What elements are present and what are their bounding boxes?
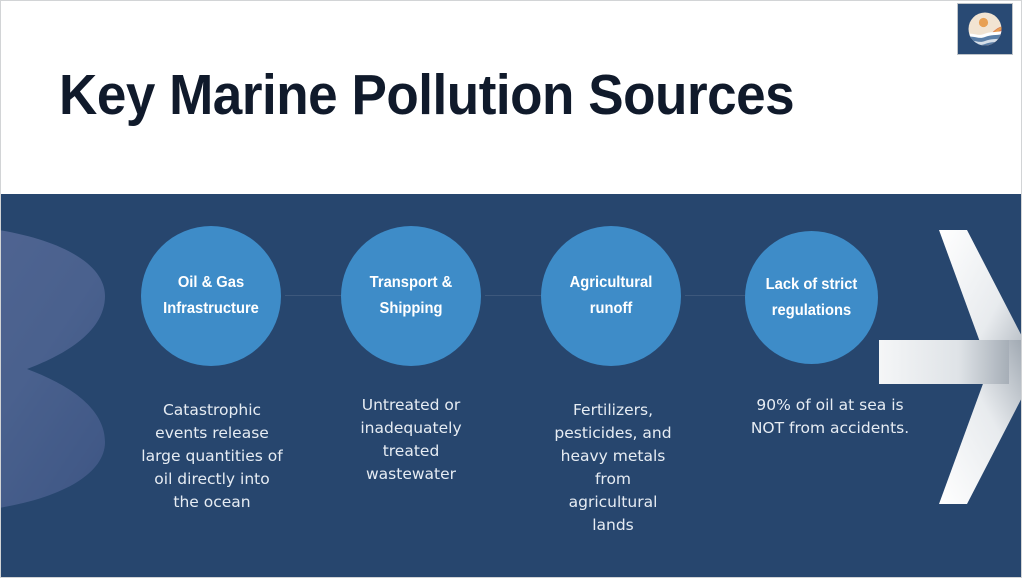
page-title: Key Marine Pollution Sources bbox=[59, 63, 794, 127]
pollution-source-list: Oil & Gas Infrastructure Catastrophic ev… bbox=[1, 194, 1022, 577]
source-bubble-agricultural-runoff[interactable]: Agricultural runoff bbox=[541, 226, 681, 366]
connector-line bbox=[285, 295, 347, 296]
slide-header-band: Key Marine Pollution Sources bbox=[1, 1, 1022, 194]
content-band: Oil & Gas Infrastructure Catastrophic ev… bbox=[1, 194, 1022, 577]
source-bubble-lack-of-regulations[interactable]: Lack of strict regulations bbox=[745, 231, 878, 364]
source-bubble-label: Lack of strict regulations bbox=[748, 272, 874, 324]
connector-line bbox=[685, 295, 747, 296]
source-bubble-oil-gas[interactable]: Oil & Gas Infrastructure bbox=[141, 226, 281, 366]
slide-canvas: Key Marine Pollution Sources bbox=[0, 0, 1022, 578]
source-bubble-label: Oil & Gas Infrastructure bbox=[145, 270, 278, 322]
sun-sea-logo-icon bbox=[965, 9, 1005, 49]
source-bubble-label: Transport & Shipping bbox=[345, 270, 478, 322]
source-description: Catastrophic events release large quanti… bbox=[141, 399, 283, 514]
source-bubble-transport-shipping[interactable]: Transport & Shipping bbox=[341, 226, 481, 366]
source-description: 90% of oil at sea is NOT from accidents. bbox=[747, 394, 913, 440]
brand-logo bbox=[957, 3, 1013, 55]
source-bubble-label: Agricultural runoff bbox=[545, 270, 678, 322]
source-description: Fertilizers, pesticides, and heavy metal… bbox=[549, 399, 677, 537]
source-description: Untreated or inadequately treated wastew… bbox=[339, 394, 483, 486]
connector-line bbox=[485, 295, 547, 296]
